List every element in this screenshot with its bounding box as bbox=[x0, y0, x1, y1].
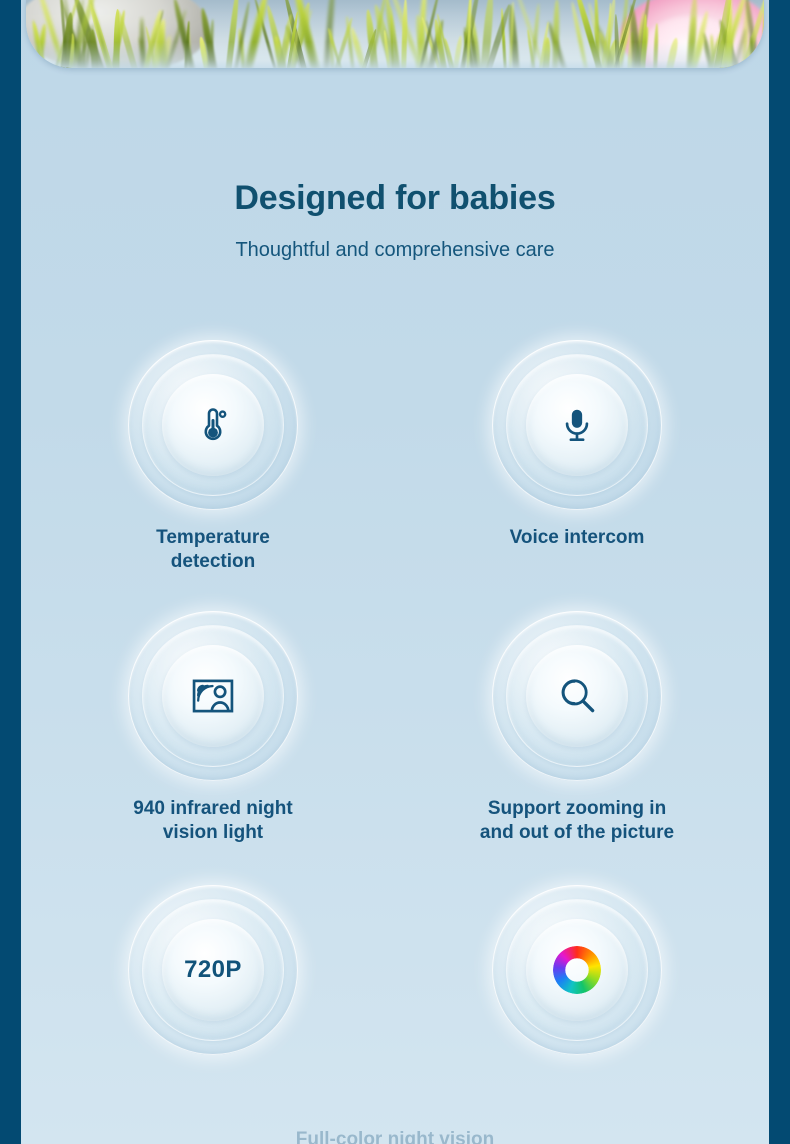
feature-item-zoom[interactable]: Support zooming in and out of the pictur… bbox=[442, 601, 712, 846]
feature-label-line2: detection bbox=[78, 550, 348, 574]
feature-label: Voice intercom bbox=[442, 526, 712, 550]
medallion-inner-disc bbox=[162, 645, 264, 747]
page-title: Designed for babies bbox=[21, 180, 769, 217]
content-panel: Designed for babies Thoughtful and compr… bbox=[21, 0, 769, 1144]
feature-label-line1: Temperature bbox=[78, 526, 348, 550]
thermometer-icon bbox=[191, 403, 235, 447]
night-vision-icon bbox=[191, 676, 235, 716]
feature-item-night-vision[interactable]: 940 infrared night vision light bbox=[78, 601, 348, 846]
page-subtitle: Thoughtful and comprehensive care bbox=[21, 239, 769, 262]
page-root: Designed for babies Thoughtful and compr… bbox=[0, 0, 790, 1144]
medallion-inner-disc bbox=[162, 374, 264, 476]
medallion bbox=[118, 330, 308, 520]
feature-label: Support zooming in and out of the pictur… bbox=[442, 797, 712, 846]
feature-label: 940 infrared night vision light bbox=[78, 797, 348, 846]
feature-label: Temperature detection bbox=[78, 526, 348, 575]
feature-label-line1: Support zooming in bbox=[442, 797, 712, 821]
feature-grid: Temperature detection bbox=[21, 330, 769, 1065]
feature-item-voice-intercom[interactable]: Voice intercom bbox=[442, 330, 712, 575]
feature-label-line2: vision light bbox=[78, 821, 348, 845]
hero-bottom-haze bbox=[26, 42, 764, 68]
medallion: 720P bbox=[118, 875, 308, 1065]
bottom-caption: Full-color night vision bbox=[21, 1129, 769, 1144]
feature-label-line2: and out of the picture bbox=[442, 821, 712, 845]
hero-photo bbox=[26, 0, 764, 68]
feature-label-line1: Voice intercom bbox=[442, 526, 712, 550]
medallion bbox=[118, 601, 308, 791]
feature-label-line1: 940 infrared night bbox=[78, 797, 348, 821]
feature-row: Temperature detection bbox=[21, 330, 769, 575]
medallion-inner-disc bbox=[526, 645, 628, 747]
magnifier-icon bbox=[555, 674, 599, 718]
medallion bbox=[482, 330, 672, 520]
feature-row: 720P bbox=[21, 875, 769, 1065]
feature-item-resolution[interactable]: 720P bbox=[78, 875, 348, 1065]
medallion bbox=[482, 875, 672, 1065]
feature-item-temperature[interactable]: Temperature detection bbox=[78, 330, 348, 575]
color-wheel-icon bbox=[553, 946, 601, 994]
resolution-text: 720P bbox=[184, 956, 242, 984]
medallion bbox=[482, 601, 672, 791]
medallion-inner-disc bbox=[526, 919, 628, 1021]
feature-item-full-color[interactable] bbox=[442, 875, 712, 1065]
microphone-icon bbox=[556, 404, 598, 446]
headings-block: Designed for babies Thoughtful and compr… bbox=[21, 180, 769, 262]
feature-row: 940 infrared night vision light bbox=[21, 601, 769, 846]
medallion-inner-disc: 720P bbox=[162, 919, 264, 1021]
medallion-inner-disc bbox=[526, 374, 628, 476]
